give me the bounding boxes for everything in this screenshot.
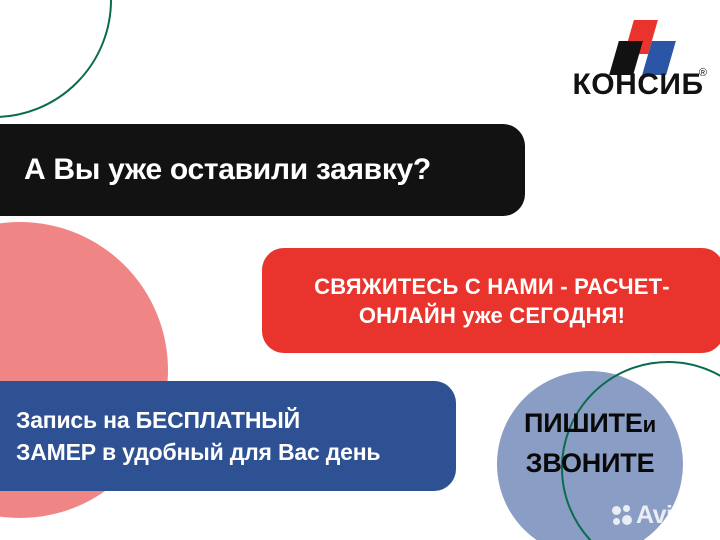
contact-line-1: ПИШИТЕи — [492, 404, 688, 444]
avito-dots-icon — [612, 505, 634, 527]
headline-banner: А Вы уже оставили заявку? — [0, 124, 525, 216]
contact-conjunction: и — [643, 412, 656, 437]
promo-banner: КОНСИБ ® А Вы уже оставили заявку? СВЯЖИ… — [0, 0, 720, 540]
booking-banner: Запись на БЕСПЛАТНЫЙ ЗАМЕР в удобный для… — [0, 381, 456, 491]
booking-text: Запись на БЕСПЛАТНЫЙ ЗАМЕР в удобный для… — [16, 404, 380, 468]
offer-line-2: ОНЛАЙН уже СЕГОДНЯ! — [314, 301, 670, 330]
booking-line-2: ЗАМЕР в удобный для Вас день — [16, 436, 380, 468]
brand-logo: КОНСИБ ® — [568, 18, 708, 106]
avito-watermark-text: Avito — [636, 503, 695, 528]
offer-banner: СВЯЖИТЕСЬ С НАМИ - РАСЧЕТ- ОНЛАЙН уже СЕ… — [262, 248, 720, 353]
booking-line-1: Запись на БЕСПЛАТНЫЙ — [16, 404, 380, 436]
contact-call-to-action: ПИШИТЕи ЗВОНИТЕ — [492, 404, 688, 482]
contact-line-2: ЗВОНИТЕ — [492, 444, 688, 482]
avito-watermark: Avito — [612, 503, 695, 528]
logo-wordmark: КОНСИБ — [568, 68, 708, 102]
registered-trademark-mark: ® — [699, 67, 707, 79]
offer-text: СВЯЖИТЕСЬ С НАМИ - РАСЧЕТ- ОНЛАЙН уже СЕ… — [314, 272, 670, 330]
decorative-ring-top-left-icon — [0, 0, 112, 118]
logo-mark-icon — [568, 18, 708, 68]
headline-text: А Вы уже оставили заявку? — [24, 153, 431, 187]
offer-line-1: СВЯЖИТЕСЬ С НАМИ - РАСЧЕТ- — [314, 272, 670, 301]
contact-write-label: ПИШИТЕ — [524, 408, 643, 438]
